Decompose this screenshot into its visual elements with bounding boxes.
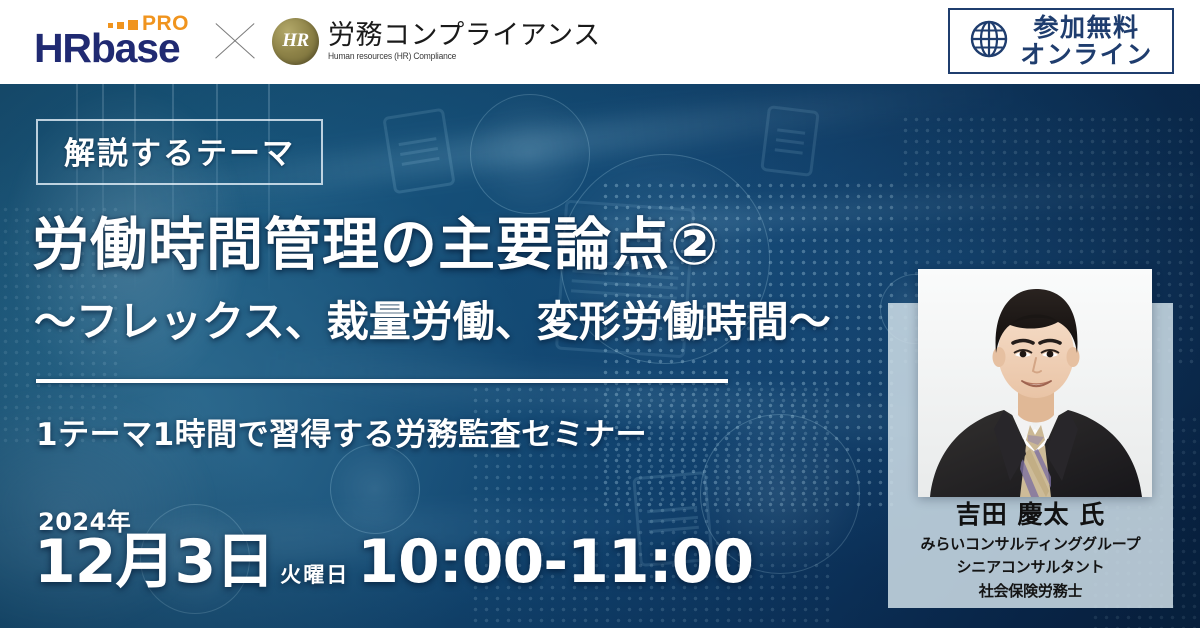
cross-icon bbox=[204, 14, 266, 68]
speaker-org-line2: シニアコンサルタント bbox=[888, 557, 1173, 578]
divider bbox=[36, 379, 728, 383]
seminar-tagline: 1テーマ1時間で習得する労務監査セミナー bbox=[36, 409, 647, 454]
compliance-text: 労務コンプライアンス Human resources (HR) Complian… bbox=[328, 21, 601, 61]
speaker-photo bbox=[918, 269, 1152, 497]
webinar-banner: PRO HRbase HR 労務コンプライアンス Human resources… bbox=[0, 0, 1200, 628]
date-month-day: 12月3日 bbox=[34, 532, 274, 592]
globe-icon bbox=[969, 19, 1009, 64]
date-time-range: 10:00-11:00 bbox=[357, 532, 753, 592]
theme-label: 解説するテーマ bbox=[64, 136, 295, 172]
compliance-title-jp: 労務コンプライアンス bbox=[328, 21, 601, 50]
free-online-badge: 参加無料 オンライン bbox=[948, 8, 1174, 74]
compliance-subtitle-en: Human resources (HR) Compliance bbox=[328, 51, 584, 61]
date-time-line: 12月3日 火曜日 10:00-11:00 bbox=[34, 532, 753, 592]
speaker-org-line1: みらいコンサルティンググループ bbox=[888, 534, 1173, 555]
badge-line-free: 参加無料 bbox=[1033, 14, 1139, 41]
logo-row: PRO HRbase HR 労務コンプライアンス Human resources… bbox=[34, 9, 601, 73]
hr-circle-icon: HR bbox=[272, 18, 319, 65]
hrbase-wordmark: HRbase bbox=[34, 28, 179, 69]
speaker-name: 吉田 慶太 氏 bbox=[888, 500, 1173, 531]
badge-line-online: オンライン bbox=[1020, 41, 1153, 68]
badge-text: 参加無料 オンライン bbox=[1020, 14, 1153, 68]
speaker-org-line3: 社会保険労務士 bbox=[888, 581, 1173, 602]
theme-label-box: 解説するテーマ bbox=[36, 119, 323, 185]
hr-circle-label: HR bbox=[282, 30, 308, 52]
date-day-of-week: 火曜日 bbox=[280, 559, 349, 589]
speaker-info: 吉田 慶太 氏 みらいコンサルティンググループ シニアコンサルタント 社会保険労… bbox=[888, 500, 1173, 602]
hero-content: 解説するテーマ 労働時間管理の主要論点② 〜フレックス、裁量労働、変形労働時間〜… bbox=[0, 84, 900, 628]
hrbase-pro-logo: PRO HRbase bbox=[34, 10, 190, 72]
page-title: 労働時間管理の主要論点② bbox=[32, 217, 719, 274]
header-bar: PRO HRbase HR 労務コンプライアンス Human resources… bbox=[0, 0, 1200, 84]
avatar bbox=[918, 269, 1152, 497]
compliance-logo: HR 労務コンプライアンス Human resources (HR) Compl… bbox=[272, 18, 601, 65]
page-subtitle: 〜フレックス、裁量労働、変形労働時間〜 bbox=[34, 301, 831, 343]
